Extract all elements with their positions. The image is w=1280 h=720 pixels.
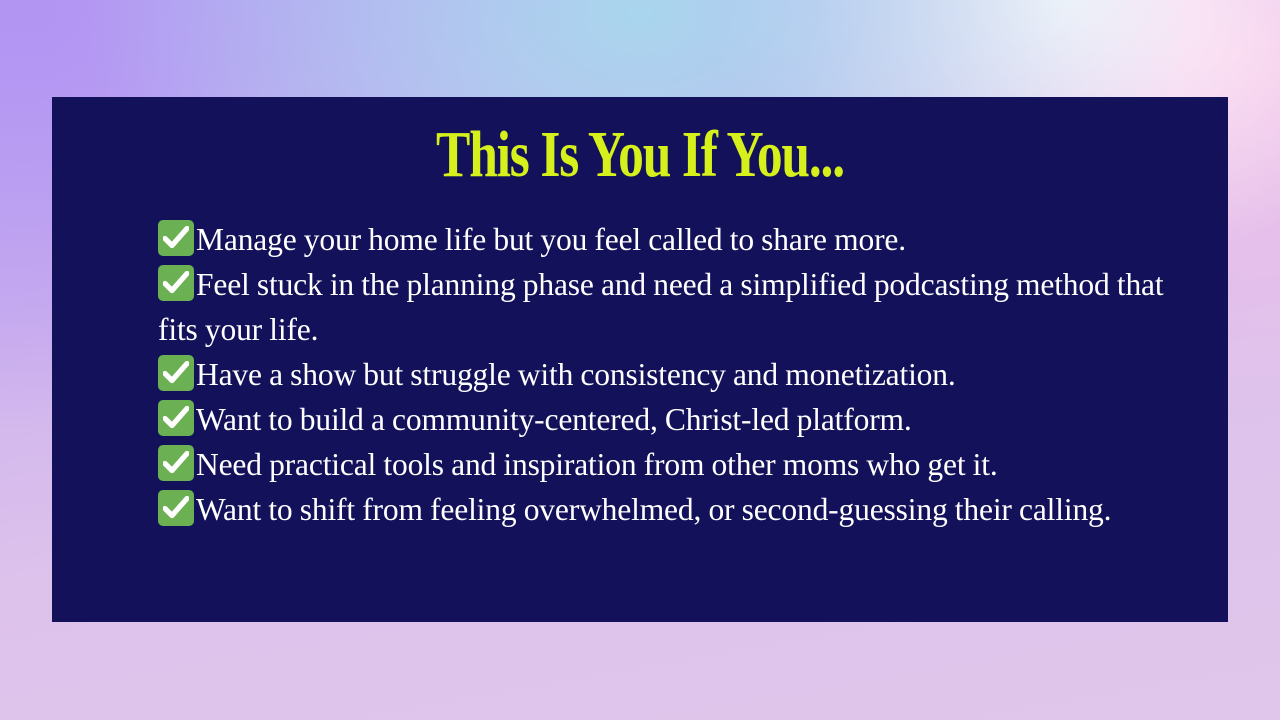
- list-item-label: Have a show but struggle with consistenc…: [196, 357, 956, 392]
- check-mark-icon: [158, 265, 194, 301]
- list-item-label: Need practical tools and inspiration fro…: [196, 447, 998, 482]
- list-item-label: Want to shift from feeling overwhelmed, …: [196, 492, 1111, 527]
- list-item-label: Feel stuck in the planning phase and nee…: [158, 267, 1163, 347]
- list-item: Want to build a community-centered, Chri…: [158, 397, 1168, 442]
- list-item: Feel stuck in the planning phase and nee…: [158, 262, 1168, 352]
- check-mark-icon: [158, 220, 194, 256]
- list-item-label: Want to build a community-centered, Chri…: [196, 402, 912, 437]
- content-card: This Is You If You... Manage your home l…: [52, 97, 1228, 622]
- list-item: Manage your home life but you feel calle…: [158, 217, 1168, 262]
- list-item: Need practical tools and inspiration fro…: [158, 442, 1168, 487]
- check-mark-icon: [158, 490, 194, 526]
- list-item: Want to shift from feeling overwhelmed, …: [158, 487, 1168, 532]
- check-mark-icon: [158, 400, 194, 436]
- list-item: Have a show but struggle with consistenc…: [158, 352, 1168, 397]
- check-mark-icon: [158, 445, 194, 481]
- check-mark-icon: [158, 355, 194, 391]
- list-item-label: Manage your home life but you feel calle…: [196, 222, 906, 257]
- slide-canvas: This Is You If You... Manage your home l…: [0, 0, 1280, 720]
- checklist: Manage your home life but you feel calle…: [158, 217, 1168, 532]
- page-title: This Is You If You...: [181, 119, 1098, 191]
